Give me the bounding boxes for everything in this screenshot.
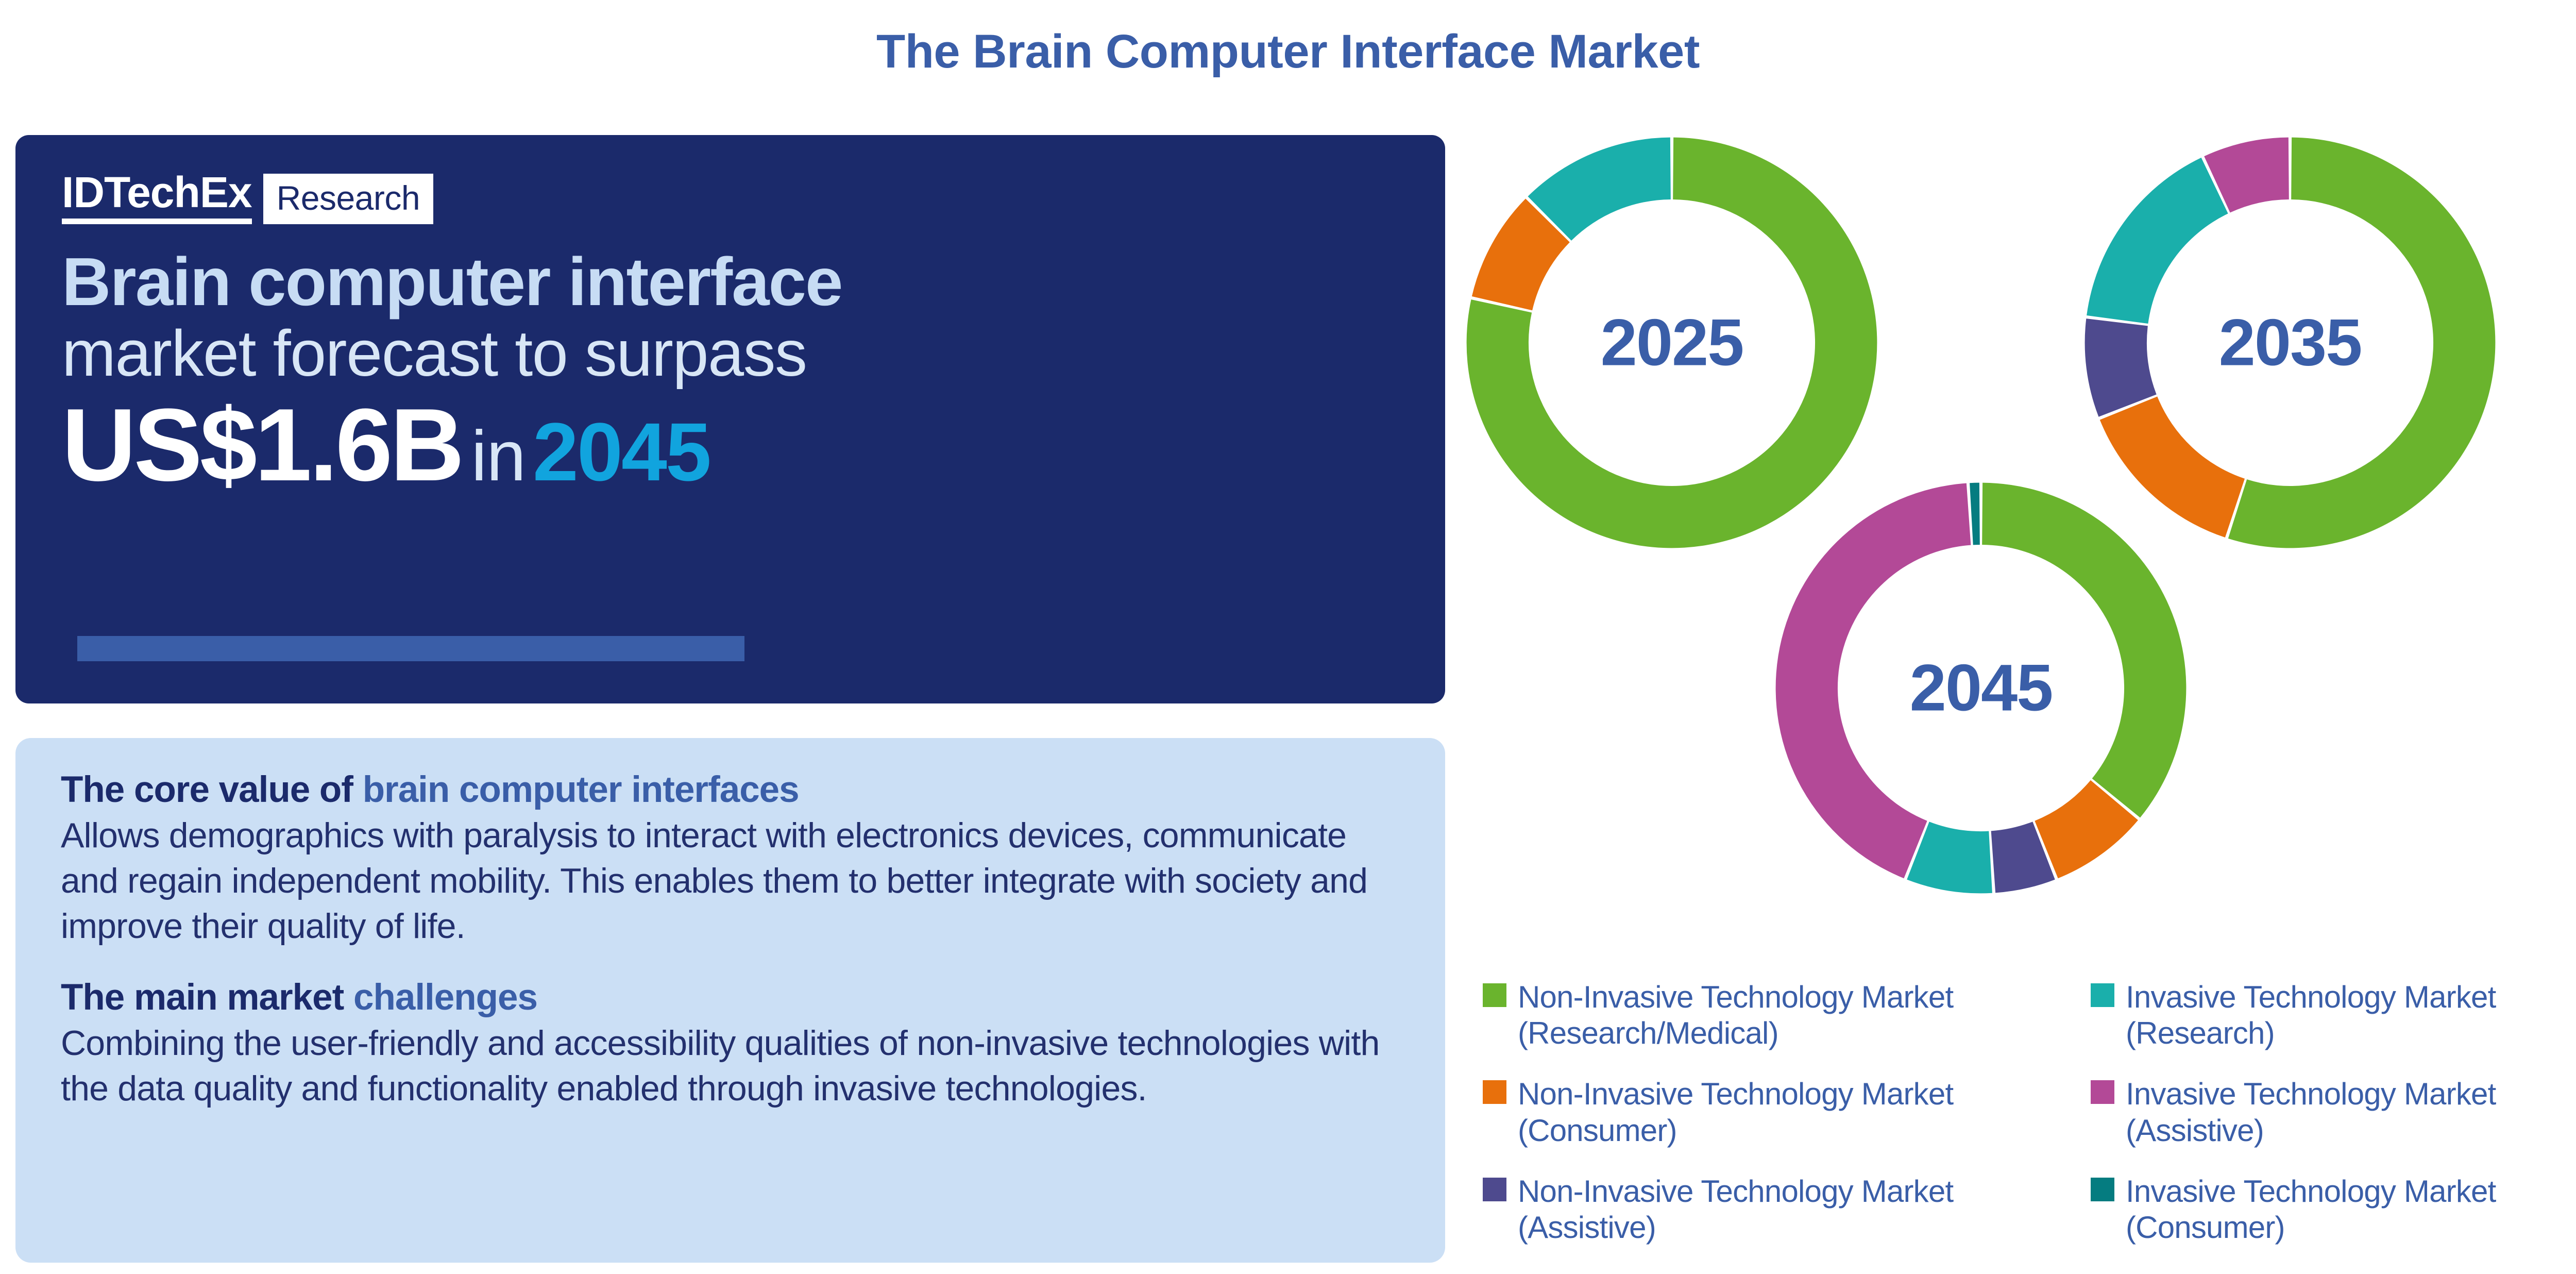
donut-slice[interactable]	[2087, 158, 2228, 324]
legend-item-invasive-assistive[interactable]: Invasive Technology Market(Assistive)	[2091, 1076, 2565, 1148]
legend-swatch-icon	[1483, 1080, 1506, 1104]
info-heading-highlight: challenges	[353, 977, 537, 1018]
info-block-core-value: The core value of brain computer interfa…	[61, 770, 1400, 949]
info-box: The core value of brain computer interfa…	[15, 738, 1445, 1263]
chart-legend: Non-Invasive Technology Market(Research/…	[1483, 979, 2554, 1246]
legend-item-invasive-consumer[interactable]: Invasive Technology Market(Consumer)	[2091, 1174, 2565, 1246]
info-heading-plain: The core value of	[61, 769, 363, 810]
hero-accent-bar	[77, 636, 744, 661]
legend-label: Non-Invasive Technology Market(Assistive…	[1518, 1174, 1953, 1246]
legend-swatch-icon	[2091, 1178, 2114, 1201]
logo-research-badge: Research	[263, 174, 433, 224]
legend-label: Non-Invasive Technology Market(Consumer)	[1518, 1076, 1953, 1148]
legend-label: Invasive Technology Market(Consumer)	[2126, 1174, 2496, 1246]
donut-2025-center-label: 2025	[1458, 305, 1886, 381]
legend-item-non-invasive-consumer[interactable]: Non-Invasive Technology Market(Consumer)	[1483, 1076, 2080, 1148]
legend-swatch-icon	[2091, 1080, 2114, 1104]
logo-brand-text: IDTechEx	[62, 172, 252, 224]
legend-label: Non-Invasive Technology Market(Research/…	[1518, 979, 1953, 1051]
page-title: The Brain Computer Interface Market	[0, 25, 2576, 79]
info-block-challenges: The main market challenges Combining the…	[61, 978, 1400, 1112]
legend-label: Invasive Technology Market(Research)	[2126, 979, 2496, 1051]
info-heading-core-value: The core value of brain computer interfa…	[61, 770, 1400, 810]
hero-year-value: 2045	[526, 406, 710, 498]
donut-slice[interactable]	[1970, 483, 1980, 545]
info-body-core-value: Allows demographics with paralysis to in…	[61, 813, 1400, 949]
hero-connector-word: in	[462, 416, 526, 496]
info-heading-challenges: The main market challenges	[61, 978, 1400, 1018]
hero-headline-line3: US$1.6Bin2045	[62, 393, 1399, 498]
info-body-challenges: Combining the user-friendly and accessib…	[61, 1021, 1400, 1111]
info-heading-plain: The main market	[61, 977, 353, 1018]
hero-headline-line1: Brain computer interface	[62, 247, 1399, 317]
info-heading-highlight: brain computer interfaces	[363, 769, 799, 810]
legend-item-non-invasive-research-medical[interactable]: Non-Invasive Technology Market(Research/…	[1483, 979, 2080, 1051]
legend-swatch-icon	[1483, 983, 1506, 1007]
legend-swatch-icon	[1483, 1178, 1506, 1201]
hero-headline-line2: market forecast to surpass	[62, 319, 1399, 388]
hero-amount-value: US$1.6B	[62, 388, 462, 502]
donut-2045-center-label: 2045	[1767, 650, 2195, 726]
donut-chart-2045: 2045	[1767, 474, 2195, 902]
legend-item-invasive-research[interactable]: Invasive Technology Market(Research)	[2091, 979, 2565, 1051]
legend-label: Invasive Technology Market(Assistive)	[2126, 1076, 2496, 1148]
legend-item-non-invasive-assistive[interactable]: Non-Invasive Technology Market(Assistive…	[1483, 1174, 2080, 1246]
hero-panel: IDTechEx Research Brain computer interfa…	[15, 135, 1445, 703]
donut-2035-center-label: 2035	[2076, 305, 2504, 381]
idtechex-logo: IDTechEx Research	[62, 172, 1399, 224]
legend-swatch-icon	[2091, 983, 2114, 1007]
